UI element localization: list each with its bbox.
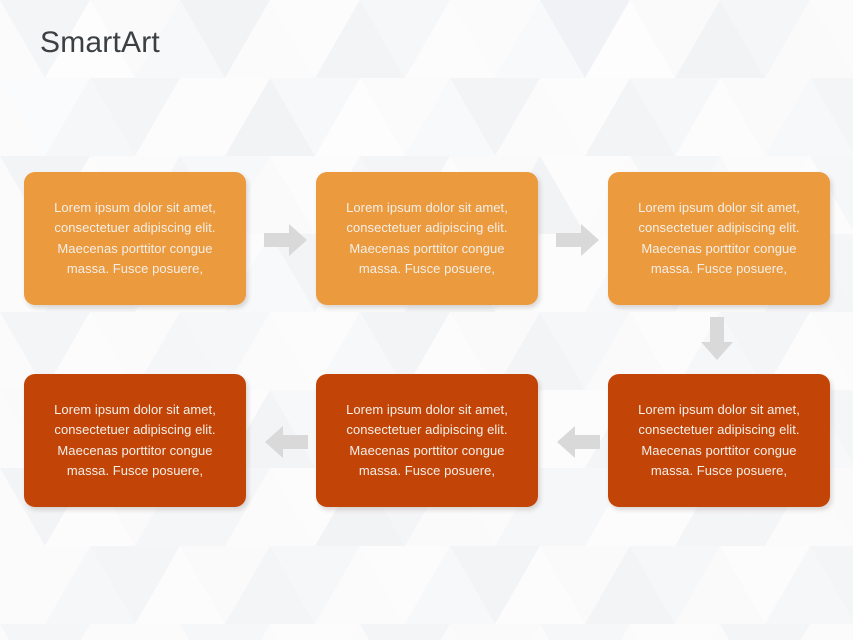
arrow-left-icon-2 xyxy=(264,425,308,459)
process-box-6[interactable]: Lorem ipsum dolor sit amet, consectetuer… xyxy=(24,374,246,507)
process-box-3[interactable]: Lorem ipsum dolor sit amet, consectetuer… xyxy=(608,172,830,305)
arrow-left-icon-1 xyxy=(556,425,600,459)
process-box-5[interactable]: Lorem ipsum dolor sit amet, consectetuer… xyxy=(316,374,538,507)
arrow-down-icon xyxy=(700,317,734,361)
process-box-4[interactable]: Lorem ipsum dolor sit amet, consectetuer… xyxy=(608,374,830,507)
process-box-2-text: Lorem ipsum dolor sit amet, consectetuer… xyxy=(328,198,526,280)
slide-canvas: SmartArt Lorem ipsum dolor sit amet, con… xyxy=(0,0,853,640)
process-box-6-text: Lorem ipsum dolor sit amet, consectetuer… xyxy=(36,400,234,482)
process-box-3-text: Lorem ipsum dolor sit amet, consectetuer… xyxy=(620,198,818,280)
process-box-5-text: Lorem ipsum dolor sit amet, consectetuer… xyxy=(328,400,526,482)
arrow-right-icon-2 xyxy=(556,223,600,257)
process-box-1-text: Lorem ipsum dolor sit amet, consectetuer… xyxy=(36,198,234,280)
process-box-4-text: Lorem ipsum dolor sit amet, consectetuer… xyxy=(620,400,818,482)
arrow-right-icon-1 xyxy=(264,223,308,257)
page-title: SmartArt xyxy=(40,26,160,60)
process-box-1[interactable]: Lorem ipsum dolor sit amet, consectetuer… xyxy=(24,172,246,305)
process-box-2[interactable]: Lorem ipsum dolor sit amet, consectetuer… xyxy=(316,172,538,305)
